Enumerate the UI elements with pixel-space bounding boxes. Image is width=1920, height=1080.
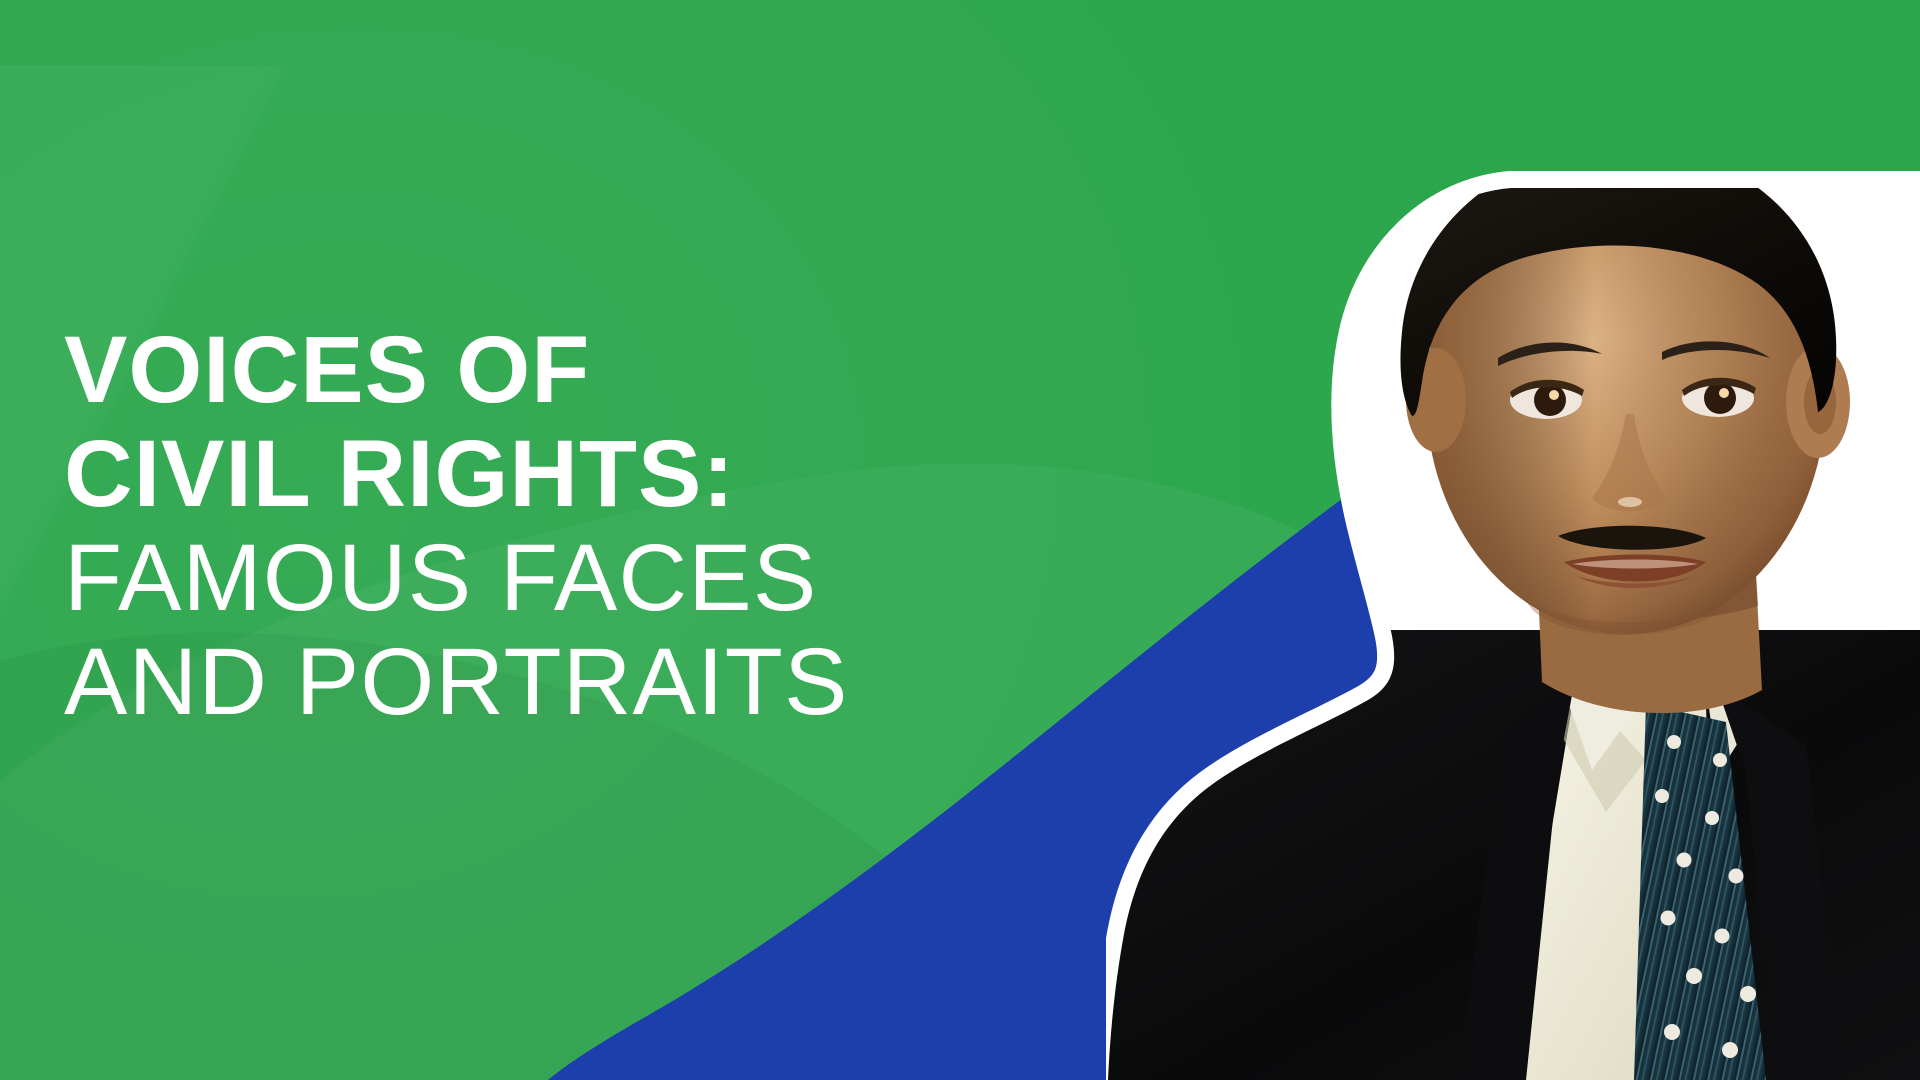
headline-line-3: FAMOUS FACES [64, 526, 1064, 630]
headline-line-1: VOICES OF [64, 318, 1064, 422]
headline-line-4: AND PORTRAITS [64, 630, 1064, 734]
poster-canvas: VOICES OF CIVIL RIGHTS: FAMOUS FACES AND… [0, 0, 1920, 1080]
headline-block: VOICES OF CIVIL RIGHTS: FAMOUS FACES AND… [64, 318, 1064, 734]
headline-line-2: CIVIL RIGHTS: [64, 422, 1064, 526]
portrait-illustration [1106, 70, 1920, 1080]
portrait-figure [1106, 70, 1920, 1080]
